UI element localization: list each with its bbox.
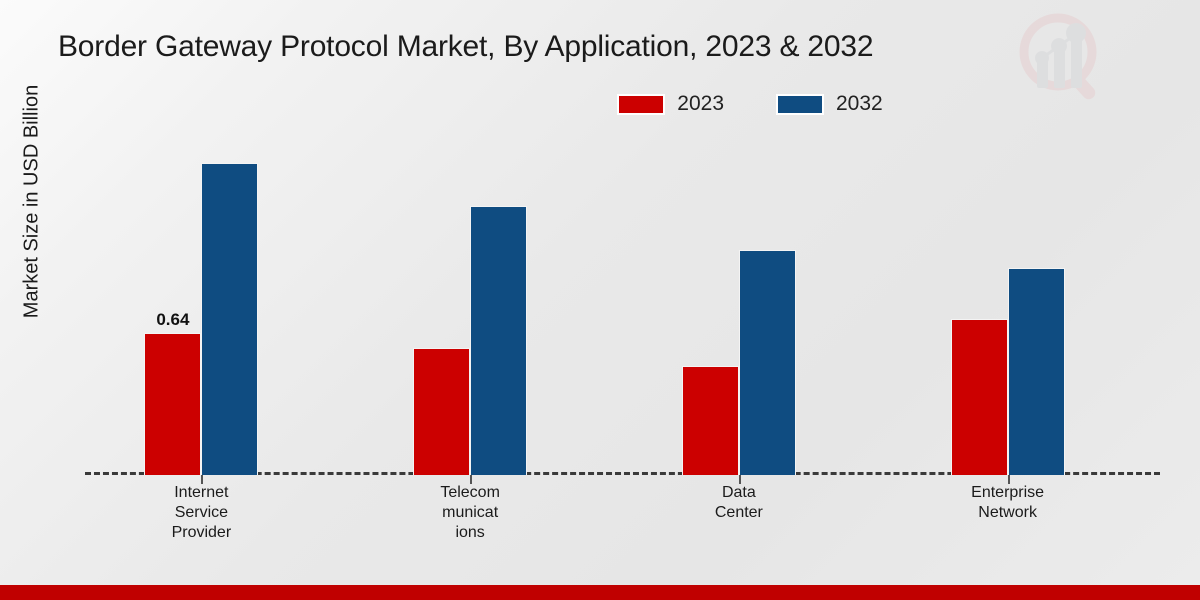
footer-accent-bar [0, 585, 1200, 600]
legend-label-2032: 2032 [836, 92, 883, 116]
bar-2023[interactable] [951, 319, 1008, 475]
bar-group: 0.64 [67, 130, 336, 475]
bar-2023[interactable] [413, 348, 470, 475]
x-axis-category-label: EnterpriseNetwork [948, 483, 1068, 523]
bar-group [336, 130, 605, 475]
legend-swatch-2023 [617, 94, 665, 115]
legend-label-2023: 2023 [677, 92, 724, 116]
legend-item-2032[interactable]: 2032 [776, 92, 883, 116]
bar-2023[interactable] [682, 366, 739, 475]
x-axis-category-label: Telecommunications [410, 483, 530, 543]
bar-2032[interactable] [470, 206, 527, 475]
bar-group [605, 130, 874, 475]
bar-2032[interactable] [201, 163, 258, 475]
y-axis-label: Market Size in USD Billion [21, 22, 44, 382]
x-axis-category-label: DataCenter [679, 483, 799, 523]
bar-value-label: 0.64 [156, 310, 189, 330]
x-axis-category-label: InternetServiceProvider [141, 483, 261, 543]
bar-2032[interactable] [1008, 268, 1065, 475]
plot-area: 0.64 [85, 130, 1160, 475]
x-axis-category-labels: InternetServiceProviderTelecommunication… [85, 483, 1160, 563]
legend-swatch-2032 [776, 94, 824, 115]
chart-figure: Border Gateway Protocol Market, By Appli… [0, 0, 1200, 600]
chart-legend: 2023 2032 [0, 92, 1200, 116]
chart-title: Border Gateway Protocol Market, By Appli… [58, 30, 873, 64]
legend-item-2023[interactable]: 2023 [617, 92, 724, 116]
bar-group [873, 130, 1142, 475]
bar-2032[interactable] [739, 250, 796, 475]
bar-2023[interactable]: 0.64 [144, 333, 201, 475]
